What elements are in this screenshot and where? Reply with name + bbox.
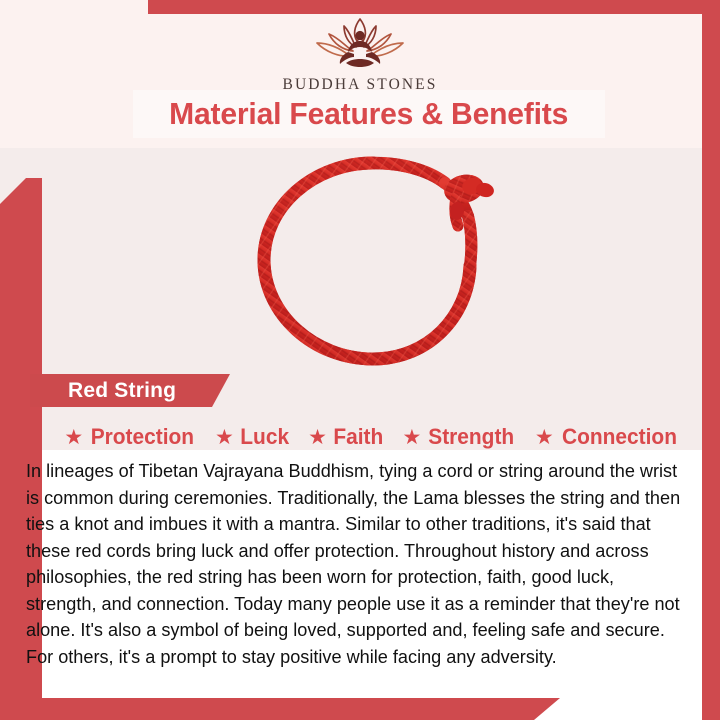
product-name-tag: Red String [30, 374, 230, 407]
product-name-label: Red String [68, 379, 176, 403]
frame-accent-top [148, 0, 720, 14]
feature-item-luck: ★ Luck [208, 424, 297, 450]
star-icon: ★ [535, 427, 554, 448]
feature-label: Protection [91, 424, 194, 450]
star-icon: ★ [308, 427, 327, 448]
star-icon: ★ [215, 427, 234, 448]
page-title: Material Features & Benefits [170, 96, 569, 132]
feature-label: Connection [562, 424, 677, 450]
red-braided-string-bracelet-image [242, 154, 502, 372]
brand-logo-block: BUDDHA STONES [0, 16, 720, 94]
feature-item-strength: ★ Strength [396, 424, 524, 450]
frame-accent-bottom [0, 698, 560, 720]
feature-item-connection: ★ Connection [528, 424, 687, 450]
star-icon: ★ [403, 427, 422, 448]
product-image-area [42, 150, 702, 372]
feature-label: Luck [240, 424, 289, 450]
feature-item-protection: ★ Protection [57, 424, 204, 450]
feature-benefit-list: ★ Protection ★ Luck ★ Faith ★ Strength ★… [42, 420, 702, 454]
feature-item-faith: ★ Faith [301, 424, 391, 450]
frame-accent-right [702, 0, 720, 720]
description-paragraph: In lineages of Tibetan Vajrayana Buddhis… [26, 458, 682, 670]
lotus-meditation-figure-icon [308, 16, 412, 72]
headline-banner: Material Features & Benefits [133, 90, 605, 138]
feature-label: Strength [429, 424, 515, 450]
star-icon: ★ [64, 427, 83, 448]
feature-label: Faith [333, 424, 383, 450]
material-features-poster: BUDDHA STONES Material Features & Benefi… [0, 0, 720, 720]
